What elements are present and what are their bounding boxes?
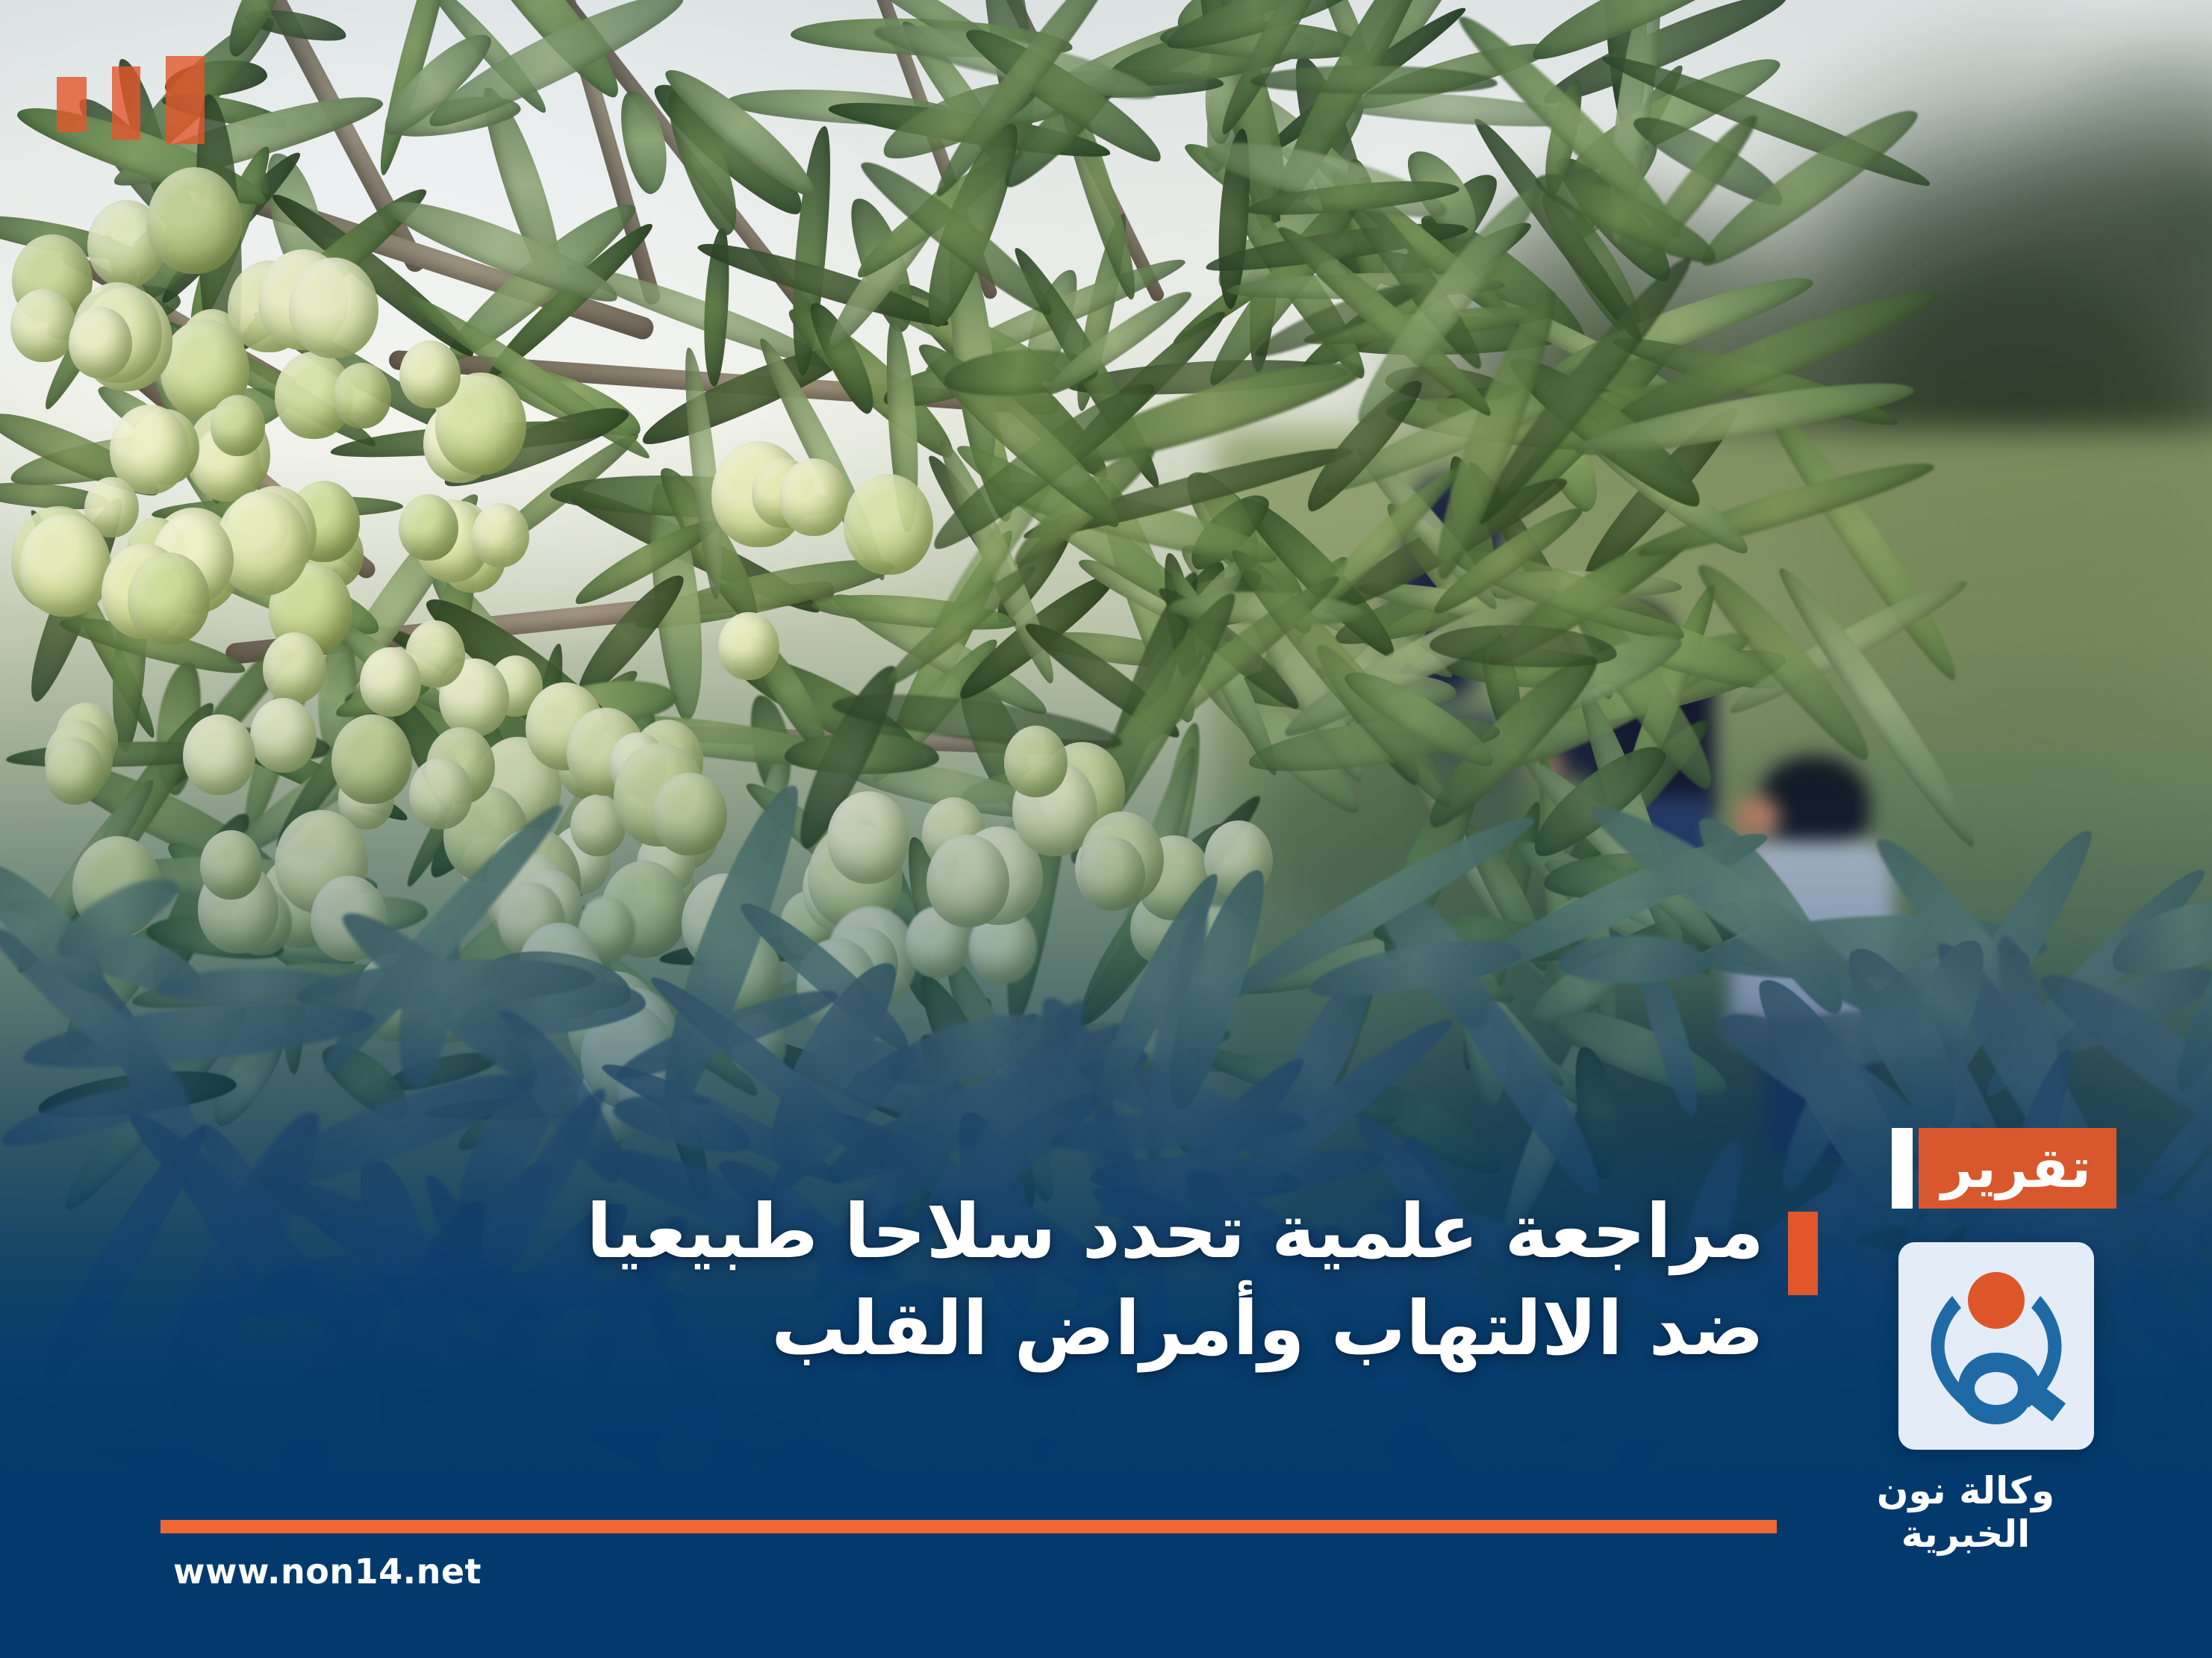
headline-line-1: مراجعة علمية تحدد سلاحا طبيعيا — [112, 1183, 1764, 1280]
page-title: مراجعة علمية تحدد سلاحا طبيعيا ضد الالته… — [112, 1183, 1764, 1377]
footer-divider — [161, 1520, 1777, 1533]
watermark-logo — [31, 56, 205, 146]
noon-logo-icon — [1898, 1242, 2094, 1450]
agency-logo — [1898, 1242, 2094, 1450]
watermark-bar-2 — [112, 66, 140, 140]
headline-line-2: ضد الالتهاب وأمراض القلب — [112, 1280, 1764, 1377]
watermark-bar-1 — [166, 56, 205, 144]
report-badge: تقرير — [1892, 1128, 2116, 1209]
headline-accent-bar — [1788, 1212, 1818, 1295]
agency-name: وكالة نون الخبرية — [1809, 1469, 2122, 1556]
report-badge-tick — [1892, 1128, 1913, 1209]
background-photo — [0, 0, 2212, 1658]
news-card: تقرير مراجعة علمية تحدد سلاحا طبيعيا ضد … — [0, 0, 2212, 1658]
report-badge-label: تقرير — [1919, 1128, 2116, 1209]
watermark-bar-3 — [57, 77, 87, 132]
website-url[interactable]: www.non14.net — [173, 1551, 482, 1592]
